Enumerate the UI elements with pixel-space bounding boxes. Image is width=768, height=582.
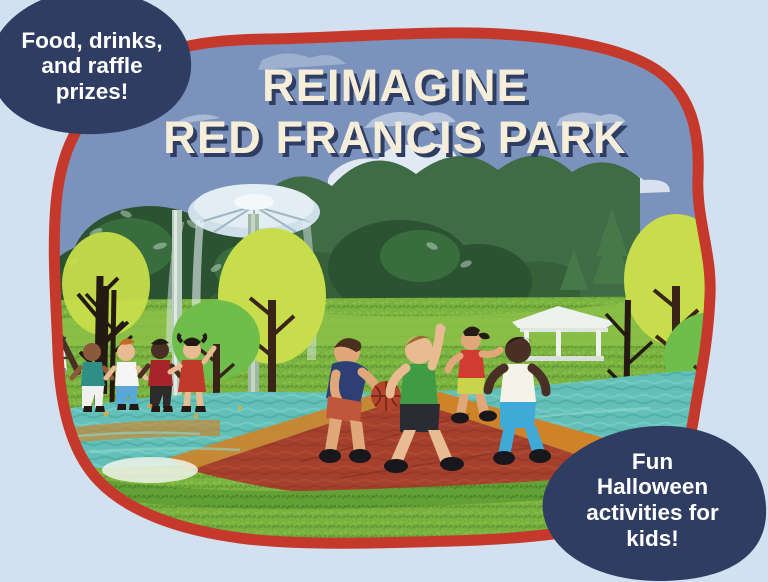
poster-canvas: REIMAGINE RED FRANCIS PARK Food, drinks,… xyxy=(0,0,768,582)
badge-food-drinks-raffle-text: Food, drinks, and raffle prizes! xyxy=(11,20,168,105)
splash-puddle xyxy=(102,457,198,483)
badge-fun-halloween-activities-text: Fun Halloween activities for kids! xyxy=(580,449,725,558)
badge-food-drinks-raffle: Food, drinks, and raffle prizes! xyxy=(0,0,194,136)
badge-fun-halloween-activities: Fun Halloween activities for kids! xyxy=(537,424,768,582)
